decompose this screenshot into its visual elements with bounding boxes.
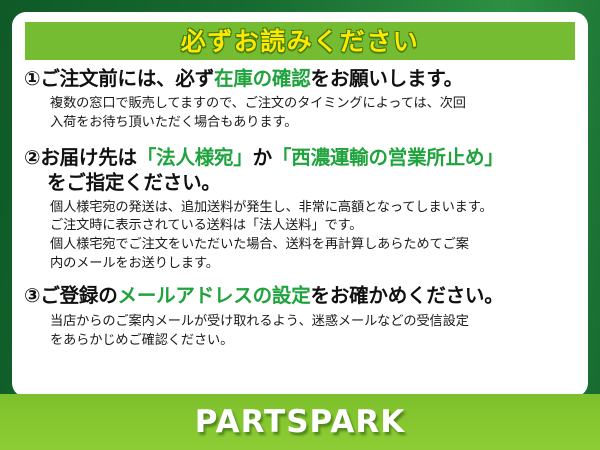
notice-item-1-heading-post: をお願いします。 [311,67,463,90]
notice-item-2-body-line-4: 内のメールをお送りします。 [50,255,576,274]
brand-name: PARTSPARK [195,407,406,438]
notice-item-2-body-line-1: 個人様宅宛の発送は、追加送料が発生し、非常に高額となってしまいます。 [50,199,576,218]
notice-item-2-heading-cont: をご指定ください。 [24,170,576,195]
notice-item-3-heading-post: をお確かめください。 [311,284,504,307]
notice-item-1-heading-highlight: 在庫の確認 [214,67,311,90]
notice-item-3-heading: ③ご登録のメールアドレスの設定をお確かめください。 [22,283,576,308]
notice-item-2-body: 個人様宅宛の発送は、追加送料が発生し、非常に高額となってしまいます。 ご注文時に… [22,196,576,274]
notice-item-3-heading-pre: ご登録の [40,284,117,307]
notice-item-2-heading-highlight-1: 法人様宛 [156,146,233,169]
inner-white-panel: 必ずお読みください ①ご注文前には、必ず在庫の確認をお願いします。 複数の窓口で… [12,12,588,397]
notice-item-3-body: 当店からのご案内メールが受け取れるよう、迷惑メールなどの受信設定 をあらかじめご… [22,309,576,350]
notice-item-1-body-line-1: 複数の窓口で販売してますので、ご注文のタイミングによっては、次回 [50,95,576,114]
notice-item-2-heading-pre: お届け先は [40,146,137,169]
notice-item-2-quote-open-2: 「 [272,146,291,169]
notice-item-3-marker: ③ [24,284,40,307]
title-banner: 必ずお読みください [25,22,575,60]
notice-item-2-heading-highlight-2: 西濃運輸の営業所止め [291,146,484,169]
notice-item-1-heading: ①ご注文前には、必ず在庫の確認をお願いします。 [22,66,576,91]
notice-card: 必ずお読みください ①ご注文前には、必ず在庫の確認をお願いします。 複数の窓口で… [0,0,600,450]
notice-item-2-body-line-3: 個人様宅宛でご注文をいただいた場合、送料を再計算しあらためてご案 [50,236,576,255]
notice-item-1-body-line-2: 入荷をお待ち頂いただく場合もあります。 [50,114,576,133]
notice-item-1-marker: ① [24,67,40,90]
notice-item-2-quote-close-1: 」 [233,146,252,169]
notice-item-3: ③ご登録のメールアドレスの設定をお確かめください。 当店からのご案内メールが受け… [22,283,576,350]
notice-item-2: ②お届け先は「法人様宛」か「西濃運輸の営業所止め」をご指定ください。 個人様宅宛… [22,145,576,274]
notice-item-1: ①ご注文前には、必ず在庫の確認をお願いします。 複数の窓口で販売してますので、ご… [22,66,576,133]
page-title: 必ずお読みください [181,29,420,54]
notice-item-2-body-line-2: ご注文時に表示されている送料は「法人送料」です。 [50,217,576,236]
notice-item-1-heading-pre: ご注文前には、必ず [40,67,214,90]
notice-item-2-heading-mid: か [253,146,272,169]
notice-items-list: ①ご注文前には、必ず在庫の確認をお願いします。 複数の窓口で販売してますので、ご… [12,66,588,352]
notice-item-3-body-line-2: をあらかじめご確認ください。 [50,332,576,351]
notice-item-2-quote-close-2: 」 [484,146,503,169]
notice-item-3-heading-highlight: メールアドレスの設定 [118,284,311,307]
notice-item-3-body-line-1: 当店からのご案内メールが受け取れるよう、迷惑メールなどの受信設定 [50,313,576,332]
notice-item-2-marker: ② [24,146,40,169]
notice-item-1-body: 複数の窓口で販売してますので、ご注文のタイミングによっては、次回 入荷をお待ち頂… [22,91,576,132]
brand-footer: PARTSPARK [0,394,600,450]
notice-item-2-heading: ②お届け先は「法人様宛」か「西濃運輸の営業所止め」をご指定ください。 [22,145,576,196]
notice-item-2-quote-open-1: 「 [137,146,156,169]
